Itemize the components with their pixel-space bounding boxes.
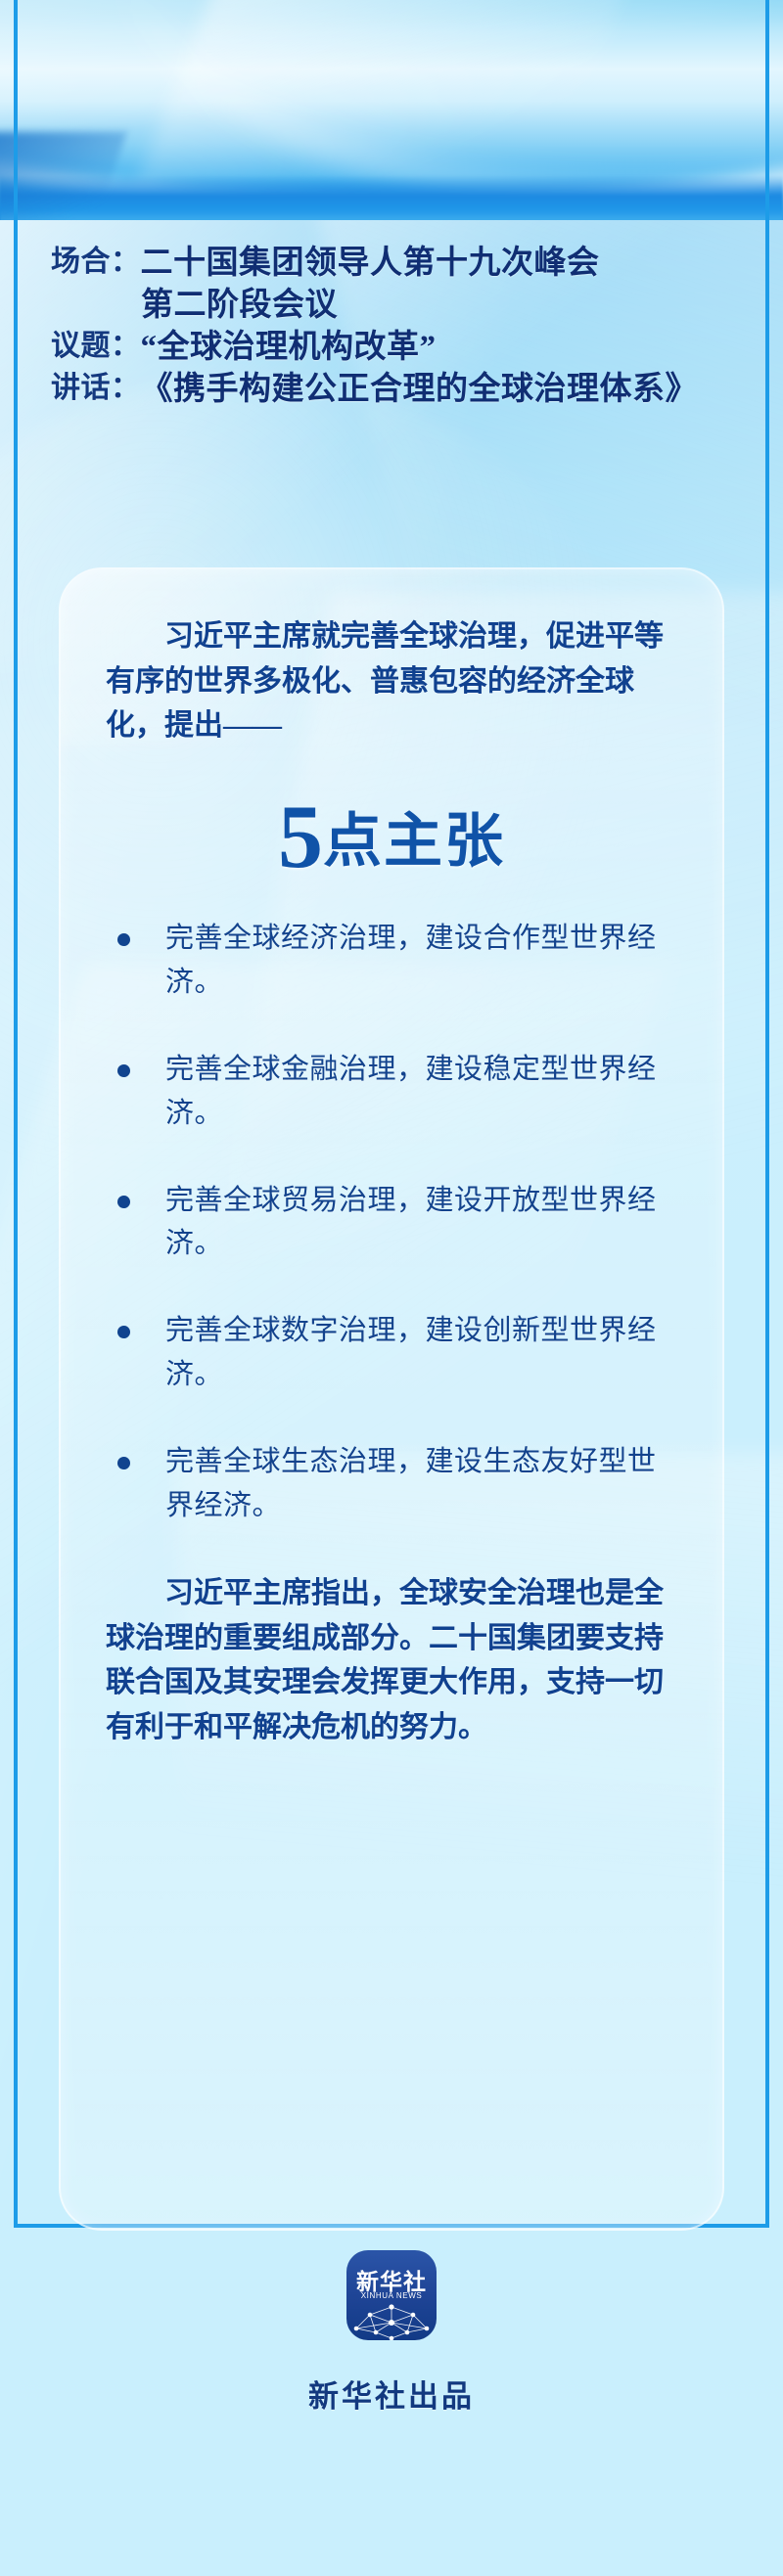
big-title: 5点主张 [106,791,677,881]
closing-paragraph: 习近平主席指出，全球安全治理也是全球治理的重要组成部分。二十国集团要支持联合国及… [106,1571,677,1749]
list-item: 完善全球金融治理，建设稳定型世界经济。 [106,1048,677,1136]
header-text-block: 场合： 二十国集团领导人第十九次峰会 第二阶段会议 议题： “全球治理机构改革”… [51,243,756,411]
header-value-topic: “全球治理机构改革” [141,327,757,369]
bullet-dot-icon [117,933,130,946]
list-item: 完善全球生态治理，建设生态友好型世界经济。 [106,1440,677,1528]
bullet-dot-icon [117,1326,130,1338]
point-text: 完善全球金融治理，建设稳定型世界经济。 [165,1048,677,1136]
header-label-topic: 议题： [51,327,141,365]
points-list: 完善全球经济治理，建设合作型世界经济。 完善全球金融治理，建设稳定型世界经济。 … [106,917,677,1528]
intro-paragraph: 习近平主席就完善全球治理，促进平等有序的世界多极化、普惠包容的经济全球化，提出—… [106,614,677,748]
list-item: 完善全球数字治理，建设创新型世界经济。 [106,1309,677,1397]
big-title-number: 5 [278,787,323,886]
big-title-text: 点主张 [323,809,505,874]
bullet-dot-icon [117,1064,130,1077]
header-row-topic: 议题： “全球治理机构改革” [51,327,756,369]
point-text: 完善全球生态治理，建设生态友好型世界经济。 [165,1440,677,1528]
header-row-occasion: 场合： 二十国集团领导人第十九次峰会 [51,243,756,285]
header-value-speech: 《携手构建公正合理的全球治理体系》 [141,369,757,411]
content-card: 习近平主席就完善全球治理，促进平等有序的世界多极化、普惠包容的经济全球化，提出—… [59,567,724,2231]
point-text: 完善全球数字治理，建设创新型世界经济。 [165,1309,677,1397]
bullet-dot-icon [117,1196,130,1208]
header-value-occasion: 二十国集团领导人第十九次峰会 [141,243,757,285]
point-text: 完善全球经济治理，建设合作型世界经济。 [165,917,677,1005]
header-row-occasion-line2: 第二阶段会议 [51,285,756,327]
top-banner-graphic [0,0,783,230]
header-row-speech: 讲话： 《携手构建公正合理的全球治理体系》 [51,369,756,411]
logo-network-graphic [346,2299,437,2340]
header-label-occasion: 场合： [51,243,141,281]
footer: 新华社 XINHUA NEWS 新华社出品 [0,2250,783,2416]
header-label-speech: 讲话： [51,369,141,407]
list-item: 完善全球经济治理，建设合作型世界经济。 [106,917,677,1005]
list-item: 完善全球贸易治理，建设开放型世界经济。 [106,1179,677,1267]
point-text: 完善全球贸易治理，建设开放型世界经济。 [165,1179,677,1267]
card-inner: 习近平主席就完善全球治理，促进平等有序的世界多极化、普惠包容的经济全球化，提出—… [61,569,722,1750]
xinhua-logo-icon: 新华社 XINHUA NEWS [346,2250,437,2340]
bullet-dot-icon [117,1457,130,1469]
footer-label: 新华社出品 [308,2372,475,2416]
header-value-occasion-line2: 第二阶段会议 [141,285,756,327]
